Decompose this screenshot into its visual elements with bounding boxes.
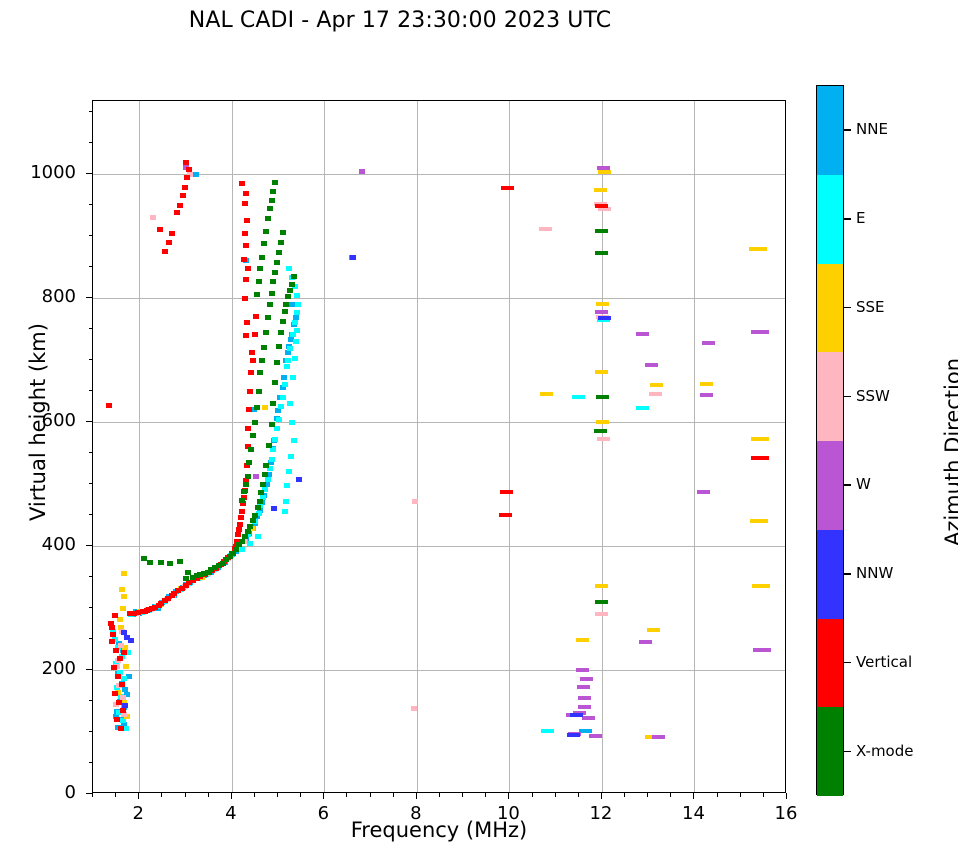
x-axis-tick <box>416 793 417 799</box>
x-axis-minor-tick <box>763 793 764 797</box>
colorbar-label-w: W <box>856 475 871 493</box>
data-point <box>167 561 173 566</box>
data-point <box>700 382 713 386</box>
data-point <box>291 274 297 279</box>
data-point <box>109 639 115 644</box>
colorbar-label-nnw: NNW <box>856 564 893 582</box>
data-point <box>295 302 301 307</box>
y-axis-tick-label: 0 <box>16 782 76 803</box>
y-axis-minor-tick <box>89 390 93 391</box>
y-axis-tick <box>86 669 92 670</box>
data-point <box>286 469 292 474</box>
data-point <box>123 664 129 669</box>
data-point <box>263 330 269 335</box>
y-axis-tick <box>86 297 92 298</box>
data-point <box>239 498 245 503</box>
y-axis-title: Virtual height (km) <box>26 262 50 582</box>
data-point <box>147 560 153 565</box>
data-point <box>112 691 118 696</box>
data-point <box>121 571 127 576</box>
data-point <box>184 175 190 180</box>
data-point <box>580 677 593 681</box>
data-point <box>243 277 249 282</box>
data-point <box>246 407 252 412</box>
data-point <box>572 395 585 399</box>
x-axis-minor-tick <box>346 793 347 797</box>
data-point <box>294 310 300 315</box>
x-axis-minor-tick <box>578 793 579 797</box>
data-point <box>117 656 123 661</box>
data-point <box>267 206 273 211</box>
data-point <box>254 405 260 410</box>
data-point <box>577 685 590 689</box>
data-point <box>589 734 602 738</box>
data-point <box>158 560 164 565</box>
data-point <box>179 586 185 591</box>
y-axis-tick <box>86 545 92 546</box>
colorbar-tick <box>844 307 851 308</box>
data-point <box>267 302 273 307</box>
data-point <box>262 472 268 477</box>
x-axis-minor-tick <box>161 793 162 797</box>
data-point <box>541 729 554 733</box>
x-axis-minor-tick <box>647 793 648 797</box>
data-point <box>280 319 286 324</box>
data-point <box>647 628 660 632</box>
colorbar-tick <box>844 573 851 574</box>
data-point <box>636 332 649 336</box>
data-point <box>123 726 129 731</box>
data-point <box>110 632 116 637</box>
colorbar-title: Azimuth Direction <box>941 292 958 612</box>
data-point <box>177 203 183 208</box>
data-point <box>595 370 608 374</box>
y-axis-minor-tick <box>89 235 93 236</box>
y-axis-minor-tick <box>89 359 93 360</box>
data-point <box>411 706 417 711</box>
data-point <box>247 541 253 546</box>
y-axis-minor-tick <box>89 731 93 732</box>
colorbar-tick <box>844 662 851 663</box>
data-point <box>697 490 710 494</box>
data-point <box>112 613 118 618</box>
data-point <box>582 716 595 720</box>
data-point <box>252 420 258 425</box>
x-axis-minor-tick <box>277 793 278 797</box>
data-point <box>272 380 278 385</box>
data-point <box>596 395 609 399</box>
data-point <box>265 315 271 320</box>
data-point <box>190 575 196 580</box>
data-point <box>270 189 276 194</box>
data-point <box>270 279 276 284</box>
y-axis-minor-tick <box>89 483 93 484</box>
data-point <box>749 247 767 251</box>
data-point <box>128 638 134 643</box>
x-axis-minor-tick <box>555 793 556 797</box>
data-point <box>243 191 249 196</box>
data-point <box>248 370 254 375</box>
data-point <box>108 621 114 626</box>
data-point <box>269 422 275 427</box>
x-axis-minor-tick <box>670 793 671 797</box>
data-point <box>121 594 127 599</box>
data-point <box>220 561 226 566</box>
x-axis-minor-tick <box>185 793 186 797</box>
data-point <box>570 713 583 717</box>
data-point <box>292 356 298 361</box>
data-point <box>287 401 293 406</box>
colorbar-tick <box>844 751 851 752</box>
data-point <box>239 181 245 186</box>
data-point <box>751 456 769 460</box>
data-point <box>212 565 218 570</box>
data-point <box>115 674 121 679</box>
colorbar-segment-nne <box>817 86 843 175</box>
data-point <box>141 556 147 561</box>
data-point <box>285 294 291 299</box>
data-point <box>119 682 125 687</box>
data-point <box>750 519 768 523</box>
data-point <box>157 227 163 232</box>
data-point <box>250 433 256 438</box>
data-point <box>294 328 300 333</box>
data-point <box>499 513 512 517</box>
data-point <box>249 350 255 355</box>
data-point <box>237 522 243 527</box>
data-point <box>567 733 580 737</box>
data-point <box>269 457 275 462</box>
x-axis-minor-tick <box>532 793 533 797</box>
x-axis-minor-tick <box>92 793 93 797</box>
data-point <box>595 204 608 208</box>
data-point <box>282 509 288 514</box>
data-point <box>261 345 267 350</box>
data-point <box>120 606 126 611</box>
data-point <box>290 375 296 380</box>
data-point <box>266 443 272 448</box>
colorbar-label-vertical: Vertical <box>856 653 912 671</box>
data-point <box>263 229 269 234</box>
data-point <box>285 358 291 363</box>
colorbar-label-sse: SSE <box>856 298 885 316</box>
data-point <box>121 650 127 655</box>
data-point <box>269 198 275 203</box>
plot-area <box>92 100 786 793</box>
data-point <box>197 572 203 577</box>
data-point <box>238 515 244 520</box>
y-axis-minor-tick <box>89 514 93 515</box>
data-point <box>269 291 275 296</box>
data-point <box>120 718 126 723</box>
data-point <box>595 251 608 255</box>
colorbar-segment-e <box>817 175 843 264</box>
data-point <box>288 454 294 459</box>
y-axis-minor-tick <box>89 142 93 143</box>
y-axis-minor-tick <box>89 607 93 608</box>
x-axis-minor-tick <box>624 793 625 797</box>
data-point <box>244 218 250 223</box>
data-point <box>248 447 254 452</box>
y-axis-minor-tick <box>89 266 93 267</box>
x-axis-tick <box>693 793 694 799</box>
x-axis-tick <box>508 793 509 799</box>
data-point <box>255 534 261 539</box>
data-point <box>284 364 290 369</box>
colorbar-tick <box>844 396 851 397</box>
data-point <box>578 696 591 700</box>
data-point <box>258 490 264 495</box>
x-axis-tick <box>231 793 232 799</box>
y-axis-minor-tick <box>89 638 93 639</box>
data-point <box>116 700 122 705</box>
data-point <box>596 420 609 424</box>
x-axis-tick <box>323 793 324 799</box>
y-axis-tick <box>86 793 92 794</box>
colorbar-segment-ssw <box>817 352 843 441</box>
data-point <box>292 320 298 325</box>
data-point <box>243 333 249 338</box>
data-point <box>255 505 261 510</box>
data-point <box>205 570 211 575</box>
x-axis-minor-tick <box>485 793 486 797</box>
data-point <box>152 605 158 610</box>
data-point <box>595 600 608 604</box>
data-point <box>274 360 280 365</box>
data-point <box>245 474 251 479</box>
data-point <box>227 554 233 559</box>
data-point <box>257 499 263 504</box>
data-point <box>177 559 183 564</box>
data-point <box>598 170 611 174</box>
data-point <box>166 240 172 245</box>
data-point <box>183 160 189 165</box>
data-point <box>594 188 607 192</box>
y-axis-minor-tick <box>89 111 93 112</box>
data-point <box>233 547 239 552</box>
data-point <box>280 230 286 235</box>
data-point <box>109 625 115 630</box>
data-point <box>120 708 126 713</box>
data-point <box>576 668 589 672</box>
x-axis-title: Frequency (MHz) <box>92 818 786 842</box>
data-point <box>595 229 608 233</box>
data-point <box>259 255 265 260</box>
data-point <box>702 341 715 345</box>
data-point <box>113 648 119 653</box>
y-axis-tick-label: 1000 <box>16 162 76 183</box>
data-point <box>636 406 649 410</box>
y-axis-minor-tick <box>89 576 93 577</box>
data-point <box>183 576 189 581</box>
y-axis-minor-tick <box>89 700 93 701</box>
data-point <box>256 389 262 394</box>
data-point <box>287 288 293 293</box>
x-axis-minor-tick <box>115 793 116 797</box>
data-point <box>270 401 276 406</box>
data-point <box>261 241 267 246</box>
colorbar-tick <box>844 218 851 219</box>
colorbar-segment-w <box>817 441 843 530</box>
data-point <box>286 266 292 271</box>
data-point <box>595 612 608 616</box>
data-point <box>252 332 258 337</box>
data-point <box>174 210 180 215</box>
data-point <box>284 483 290 488</box>
y-axis-minor-tick <box>89 328 93 329</box>
data-point <box>282 382 288 387</box>
data-point <box>245 266 251 271</box>
data-point <box>250 358 256 363</box>
data-point <box>281 375 287 380</box>
y-axis-minor-tick <box>89 762 93 763</box>
data-point <box>596 302 609 306</box>
data-point <box>171 591 177 596</box>
data-point <box>272 270 278 275</box>
data-point <box>501 186 514 190</box>
data-point <box>150 215 156 220</box>
data-point <box>253 474 259 479</box>
colorbar-label-e: E <box>856 209 865 227</box>
data-point <box>242 296 248 301</box>
ionogram-figure: NAL CADI - Apr 17 23:30:00 2023 UTC 2468… <box>0 0 958 857</box>
data-point <box>245 529 251 534</box>
data-point <box>114 717 120 722</box>
data-point <box>650 383 663 387</box>
data-point <box>276 250 282 255</box>
data-point <box>257 266 263 271</box>
data-point <box>639 640 652 644</box>
data-point <box>598 316 611 320</box>
data-point <box>597 437 610 441</box>
data-point <box>274 260 280 265</box>
data-point <box>256 279 262 284</box>
x-axis-minor-tick <box>370 793 371 797</box>
data-point <box>578 705 591 709</box>
data-point <box>753 648 771 652</box>
data-point <box>280 395 286 400</box>
colorbar-tick <box>844 484 851 485</box>
data-point <box>242 201 248 206</box>
data-point <box>294 293 300 298</box>
data-point <box>193 172 199 177</box>
data-point <box>751 330 769 334</box>
data-point <box>282 309 288 314</box>
data-point <box>235 532 241 537</box>
data-point <box>162 249 168 254</box>
data-point <box>752 584 770 588</box>
data-point <box>272 180 278 185</box>
data-point <box>283 302 289 307</box>
x-axis-minor-tick <box>462 793 463 797</box>
data-point <box>283 499 289 504</box>
colorbar-label-nne: NNE <box>856 120 888 138</box>
data-points-layer <box>93 101 785 792</box>
data-point <box>236 527 242 532</box>
data-point <box>245 426 251 431</box>
data-point <box>259 358 265 363</box>
data-point <box>500 490 513 494</box>
data-point <box>296 477 302 482</box>
x-axis-tick <box>786 793 787 799</box>
y-axis-tick <box>86 421 92 422</box>
x-axis-tick <box>601 793 602 799</box>
data-point <box>289 282 295 287</box>
data-point <box>118 726 124 731</box>
data-point <box>276 344 282 349</box>
x-axis-minor-tick <box>254 793 255 797</box>
data-point <box>271 506 277 511</box>
data-point <box>243 243 249 248</box>
colorbar-label-x-mode: X-mode <box>856 742 913 760</box>
y-axis-minor-tick <box>89 204 93 205</box>
data-point <box>253 314 259 319</box>
data-point <box>595 584 608 588</box>
y-axis-minor-tick <box>89 452 93 453</box>
data-point <box>186 167 192 172</box>
data-point <box>540 392 553 396</box>
data-point <box>169 231 175 236</box>
data-point <box>412 499 418 504</box>
data-point <box>165 596 171 601</box>
data-point <box>276 417 282 422</box>
data-point <box>186 580 192 585</box>
colorbar-label-ssw: SSW <box>856 387 890 405</box>
x-axis-tick <box>138 793 139 799</box>
data-point <box>243 482 249 487</box>
x-axis-minor-tick <box>300 793 301 797</box>
data-point <box>579 729 592 733</box>
data-point <box>182 185 188 190</box>
colorbar-segment-nnw <box>817 530 843 619</box>
data-point <box>289 302 295 307</box>
data-point <box>246 460 252 465</box>
data-point <box>289 420 295 425</box>
data-point <box>576 638 589 642</box>
colorbar-segment-sse <box>817 264 843 353</box>
x-axis-minor-tick <box>740 793 741 797</box>
data-point <box>291 438 297 443</box>
data-point <box>265 216 271 221</box>
data-point <box>106 403 112 408</box>
data-point <box>239 539 245 544</box>
colorbar-tick <box>844 129 851 130</box>
data-point <box>247 389 253 394</box>
data-point <box>119 587 125 592</box>
data-point <box>595 310 608 314</box>
x-axis-minor-tick <box>208 793 209 797</box>
data-point <box>278 404 284 409</box>
data-point <box>111 665 117 670</box>
colorbar-segment-vertical <box>817 619 843 708</box>
data-point <box>700 393 713 397</box>
y-axis-tick-label: 200 <box>16 658 76 679</box>
data-point <box>239 509 245 514</box>
data-point <box>350 255 356 260</box>
data-point <box>263 463 269 468</box>
data-point <box>121 630 127 635</box>
data-point <box>180 193 186 198</box>
data-point <box>250 518 256 523</box>
x-axis-minor-tick <box>717 793 718 797</box>
data-point <box>278 240 284 245</box>
data-point <box>257 370 263 375</box>
data-point <box>241 257 247 262</box>
data-point <box>649 392 662 396</box>
colorbar-segment-x-mode <box>817 707 843 796</box>
x-axis-minor-tick <box>393 793 394 797</box>
y-axis-tick <box>86 173 92 174</box>
